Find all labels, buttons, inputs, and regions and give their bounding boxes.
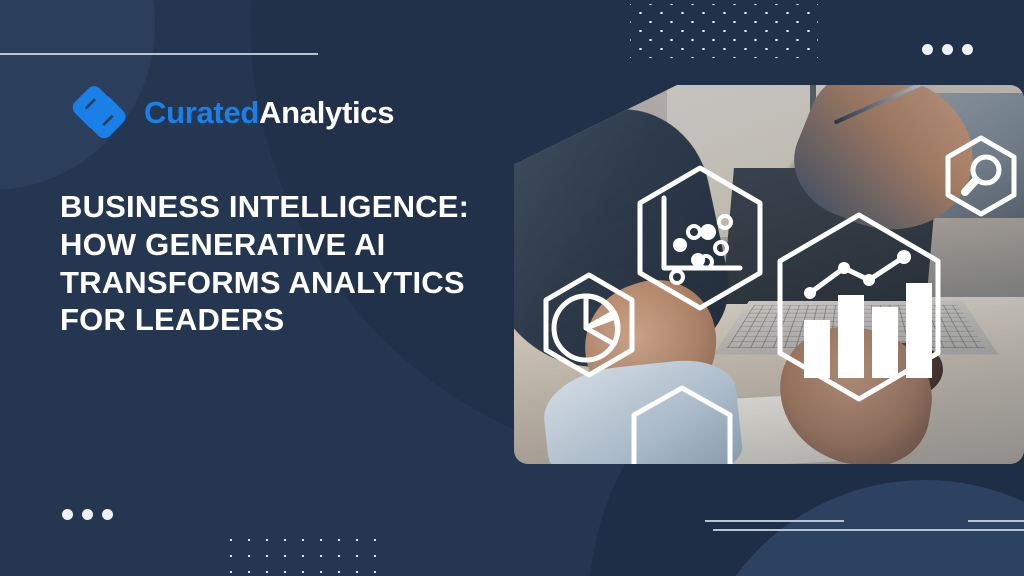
dot <box>82 509 93 520</box>
dot <box>62 509 73 520</box>
brand-wordmark: CuratedAnalytics <box>144 97 394 128</box>
rule-bottom-c <box>968 520 1024 522</box>
bar-chart-hexagon-icon <box>780 215 938 399</box>
hero-icon-overlays <box>514 85 1024 464</box>
scatter-plot-hexagon-icon <box>640 168 760 308</box>
three-dots-top-right <box>922 44 973 55</box>
dot-grid-bottom <box>222 530 387 576</box>
dot <box>942 44 953 55</box>
brand-name-secondary: Analytics <box>259 95 394 130</box>
magnifier-hexagon-icon <box>948 138 1014 214</box>
overlapping-diamonds-icon <box>68 85 130 139</box>
rule-top-left <box>0 53 318 55</box>
slide-canvas: CuratedAnalytics Business Intelligence: … <box>0 0 1024 576</box>
partial-hexagon-icon <box>634 388 730 464</box>
three-dots-bottom-left <box>62 509 113 520</box>
hero-image <box>514 85 1024 464</box>
page-title: Business Intelligence: How Generative AI… <box>60 188 480 339</box>
background-circle-bottom-light <box>690 480 1024 576</box>
dot <box>102 509 113 520</box>
dot <box>962 44 973 55</box>
rule-bottom-a <box>705 520 844 522</box>
dot-grid-top <box>630 4 818 58</box>
dot <box>922 44 933 55</box>
rule-bottom-b <box>713 529 1024 531</box>
pie-chart-hexagon-icon <box>546 275 632 375</box>
brand-name-primary: Curated <box>144 95 259 130</box>
brand-logo[interactable]: CuratedAnalytics <box>68 85 394 139</box>
